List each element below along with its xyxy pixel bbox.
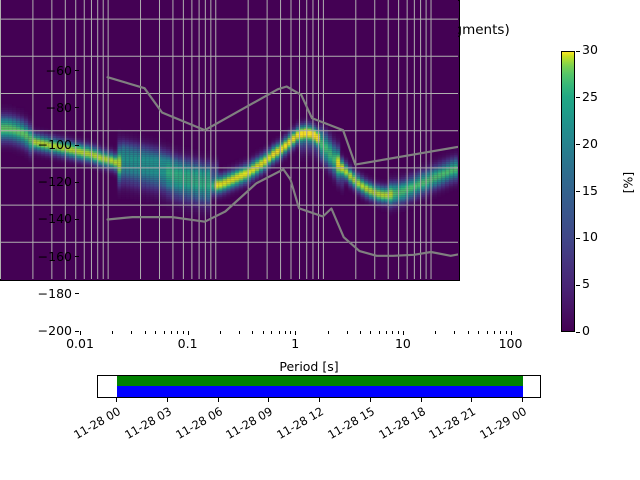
timeline-tick-mark [319, 398, 320, 402]
y-tick-mark [75, 331, 79, 332]
y-tick-mark [75, 182, 79, 183]
x-tick-label: 0.01 [50, 336, 110, 351]
timeline-tick-mark [268, 398, 269, 402]
x-tick-mark [511, 331, 512, 335]
x-tick-label: 1 [265, 336, 325, 351]
y-tick-label: −140 [0, 211, 72, 226]
x-tick-mark [164, 331, 165, 334]
colorbar [561, 51, 575, 332]
x-tick-mark [220, 331, 221, 334]
y-tick-mark [75, 256, 79, 257]
x-tick-mark [155, 331, 156, 334]
x-tick-mark [183, 331, 184, 334]
colorbar-label: [%] [621, 153, 636, 213]
x-tick-mark [386, 331, 387, 334]
timeline-tick-label: 11-28 15 [316, 404, 377, 447]
x-tick-mark [112, 331, 113, 334]
colorbar-tick-mark [576, 238, 580, 239]
x-tick-mark [171, 331, 172, 334]
x-tick-mark [290, 331, 291, 334]
x-tick-mark [487, 331, 488, 334]
y-tick-mark [75, 219, 79, 220]
x-tick-mark [347, 331, 348, 334]
y-tick-label: −160 [0, 249, 72, 264]
colorbar-tick-mark [576, 332, 580, 333]
x-tick-mark [500, 331, 501, 334]
x-tick-mark [360, 331, 361, 334]
colorbar-tick-label: 25 [582, 91, 598, 104]
y-tick-label: −180 [0, 286, 72, 301]
x-tick-label: 0.1 [158, 336, 218, 351]
x-tick-mark [252, 331, 253, 334]
colorbar-tick-label: 0 [582, 325, 590, 338]
timeline-tick-label: 11-29 00 [468, 404, 529, 447]
x-tick-mark [478, 331, 479, 334]
colorbar-tick-mark [576, 51, 580, 52]
x-tick-mark [239, 331, 240, 334]
x-tick-mark [271, 331, 272, 334]
x-tick-mark [403, 331, 404, 335]
x-tick-mark [506, 331, 507, 334]
colorbar-tick-label: 10 [582, 231, 598, 244]
y-tick-label: −100 [0, 137, 72, 152]
timeline-tick-mark [522, 398, 523, 402]
x-tick-mark [454, 331, 455, 334]
y-tick-mark [75, 70, 79, 71]
colorbar-tick-label: 5 [582, 278, 590, 291]
colorbar-tick-mark [576, 97, 580, 98]
x-tick-label: 100 [481, 336, 541, 351]
x-tick-mark [379, 331, 380, 334]
y-tick-mark [75, 107, 79, 108]
colorbar-tick-label: 15 [582, 185, 598, 198]
timeline-tick-label: 11-28 00 [62, 404, 123, 447]
y-tick-mark [75, 293, 79, 294]
coverage-timeline[interactable] [97, 375, 541, 398]
timeline-tick-mark [370, 398, 371, 402]
x-tick-mark [494, 331, 495, 334]
timeline-tick-mark [471, 398, 472, 402]
x-tick-mark [177, 331, 178, 334]
timeline-tick-label: 11-28 18 [367, 404, 428, 447]
timeline-tick-label: 11-28 12 [265, 404, 326, 447]
x-tick-mark [392, 331, 393, 334]
timeline-tick-mark [218, 398, 219, 402]
figure-canvas: BW.MKON..HHE 2025-11-28 -- 2025-11-28 (4… [0, 0, 640, 480]
colorbar-tick-mark [576, 191, 580, 192]
y-tick-label: −80 [0, 100, 72, 115]
timeline-data-bar [117, 376, 523, 386]
x-tick-mark [279, 331, 280, 334]
x-tick-mark [145, 331, 146, 334]
colorbar-tick-mark [576, 285, 580, 286]
x-tick-mark [370, 331, 371, 334]
timeline-tick-mark [116, 398, 117, 402]
x-tick-mark [263, 331, 264, 334]
x-tick-mark [131, 331, 132, 334]
x-tick-mark [285, 331, 286, 334]
timeline-tick-label: 11-28 03 [113, 404, 174, 447]
colorbar-tick-label: 30 [582, 44, 598, 57]
x-tick-mark [398, 331, 399, 334]
x-tick-mark [435, 331, 436, 334]
x-axis-label: Period [s] [79, 359, 539, 374]
timeline-used-bar [117, 386, 523, 397]
x-tick-mark [468, 331, 469, 334]
colorbar-tick-mark [576, 144, 580, 145]
timeline-tick-label: 11-28 09 [215, 404, 276, 447]
timeline-tick-label: 11-28 06 [164, 404, 225, 447]
timeline-tick-mark [167, 398, 168, 402]
timeline-tick-label: 11-28 21 [418, 404, 479, 447]
x-tick-mark [188, 331, 189, 335]
x-tick-mark [80, 331, 81, 335]
x-tick-mark [295, 331, 296, 335]
y-tick-mark [75, 145, 79, 146]
x-tick-mark [328, 331, 329, 334]
y-tick-label: −60 [0, 63, 72, 78]
timeline-tick-mark [421, 398, 422, 402]
x-tick-label: 10 [373, 336, 433, 351]
colorbar-tick-label: 20 [582, 138, 598, 151]
y-tick-label: −120 [0, 174, 72, 189]
